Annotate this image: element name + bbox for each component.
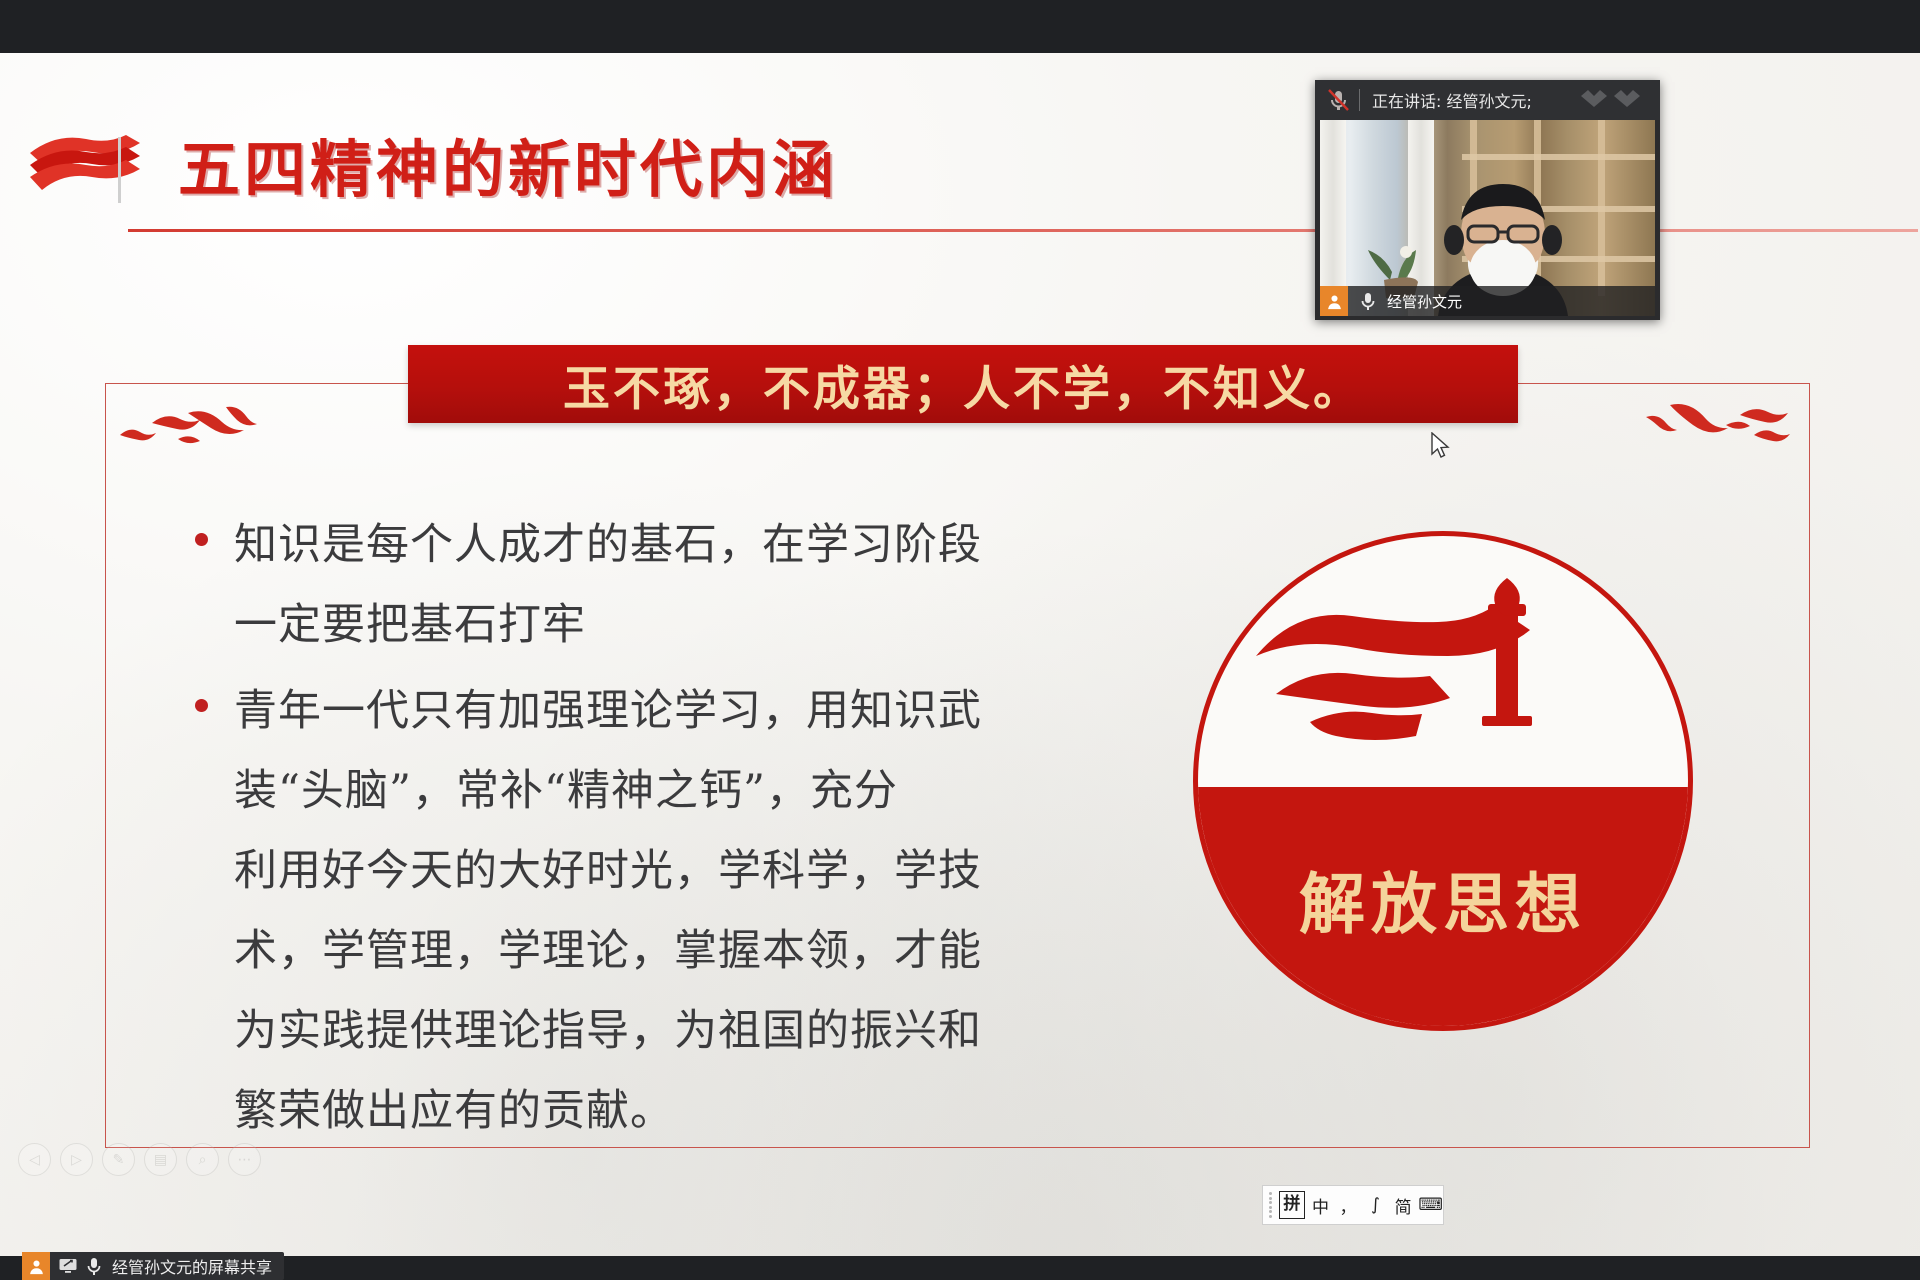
bookshelf-board: [1462, 154, 1655, 160]
participant-name-bar: 经管孙文元: [1320, 286, 1655, 316]
search-button[interactable]: ⌕: [186, 1143, 219, 1176]
screen-share-label: 经管孙文元的屏幕共享: [112, 1254, 272, 1278]
list-item: 知识是每个人成才的基石，在学习阶段 一定要把基石打牢: [195, 505, 1105, 665]
ime-drag-handle[interactable]: [1269, 1192, 1276, 1218]
mouse-cursor: [1430, 432, 1452, 462]
slide-body: 知识是每个人成才的基石，在学习阶段 一定要把基石打牢 青年一代只有加强理论学习，…: [195, 505, 1105, 1157]
microphone-icon: [85, 1256, 103, 1276]
screen-root: 五四精神的新时代内涵 玉不琢，不成器；人不学，不知义。 知识是每个人成才的基石，…: [0, 0, 1920, 1280]
torch-monument-icon: [1468, 578, 1546, 728]
ime-language-key[interactable]: 中: [1308, 1193, 1333, 1218]
pen-annotate-button[interactable]: ✎: [102, 1143, 135, 1176]
bullet-text: 知识是每个人成才的基石，在学习阶段 一定要把基石打牢: [234, 505, 982, 665]
bird-flock-right-icon: [1640, 401, 1790, 453]
quote-text: 玉不琢，不成器；人不学，不知义。: [563, 350, 1363, 419]
bullet-text: 青年一代只有加强理论学习，用知识武 装“头脑”，常补“精神之钙”，充分 利用好今…: [234, 671, 982, 1151]
ime-keyboard-key[interactable]: ⌨: [1418, 1195, 1443, 1215]
ime-toolbar[interactable]: 拼 中 ， ∫ 简 ⌨: [1262, 1185, 1444, 1225]
emblem-graphic: 解放思想: [1193, 531, 1693, 1031]
participant-name: 经管孙文元: [1387, 291, 1462, 312]
red-flag-icon: [22, 131, 152, 205]
save-button[interactable]: ▤: [144, 1143, 177, 1176]
page-title: 五四精神的新时代内涵: [178, 119, 838, 209]
ime-punctuation-key[interactable]: ，: [1336, 1193, 1361, 1218]
collapse-chevrons-icon[interactable]: [1580, 87, 1642, 113]
screen-share-status-chip[interactable]: 经管孙文元的屏幕共享: [22, 1252, 284, 1280]
emblem-label: 解放思想: [1193, 851, 1693, 947]
participant-avatar-icon: [22, 1252, 50, 1280]
quote-banner: 玉不琢，不成器；人不学，不知义。: [408, 345, 1518, 423]
window-top-strip: [0, 0, 1920, 53]
participant-video-panel[interactable]: 正在讲话: 经管孙文元;: [1315, 80, 1660, 320]
ime-shape-key[interactable]: ∫: [1363, 1195, 1388, 1215]
microphone-icon: [1357, 290, 1379, 312]
screen-share-icon: [58, 1256, 78, 1276]
bullet-dot-icon: [195, 533, 208, 546]
participant-avatar-icon: [1320, 286, 1348, 316]
more-options-button[interactable]: ⋯: [228, 1143, 261, 1176]
window-bottom-bar: [0, 1256, 1920, 1280]
bird-flock-left-icon: [118, 405, 258, 453]
speaking-label: 正在讲话: 经管孙文元;: [1372, 88, 1532, 112]
reader-toolbar[interactable]: ◁ ▷ ✎ ▤ ⌕ ⋯: [18, 1143, 261, 1176]
list-item: 青年一代只有加强理论学习，用知识武 装“头脑”，常补“精神之钙”，充分 利用好今…: [195, 671, 1105, 1151]
header-divider: [1359, 89, 1360, 111]
previous-page-button[interactable]: ◁: [18, 1143, 51, 1176]
video-panel-header: 正在讲话: 经管孙文元;: [1315, 80, 1660, 120]
next-page-button[interactable]: ▷: [60, 1143, 93, 1176]
microphone-muted-icon[interactable]: [1325, 87, 1351, 113]
ime-charset-key[interactable]: 简: [1391, 1193, 1416, 1218]
ime-mode-key[interactable]: 拼: [1279, 1191, 1306, 1219]
video-tile[interactable]: 经管孙文元: [1320, 120, 1655, 316]
emblem-circle: [1193, 531, 1693, 1031]
bullet-dot-icon: [195, 699, 208, 712]
